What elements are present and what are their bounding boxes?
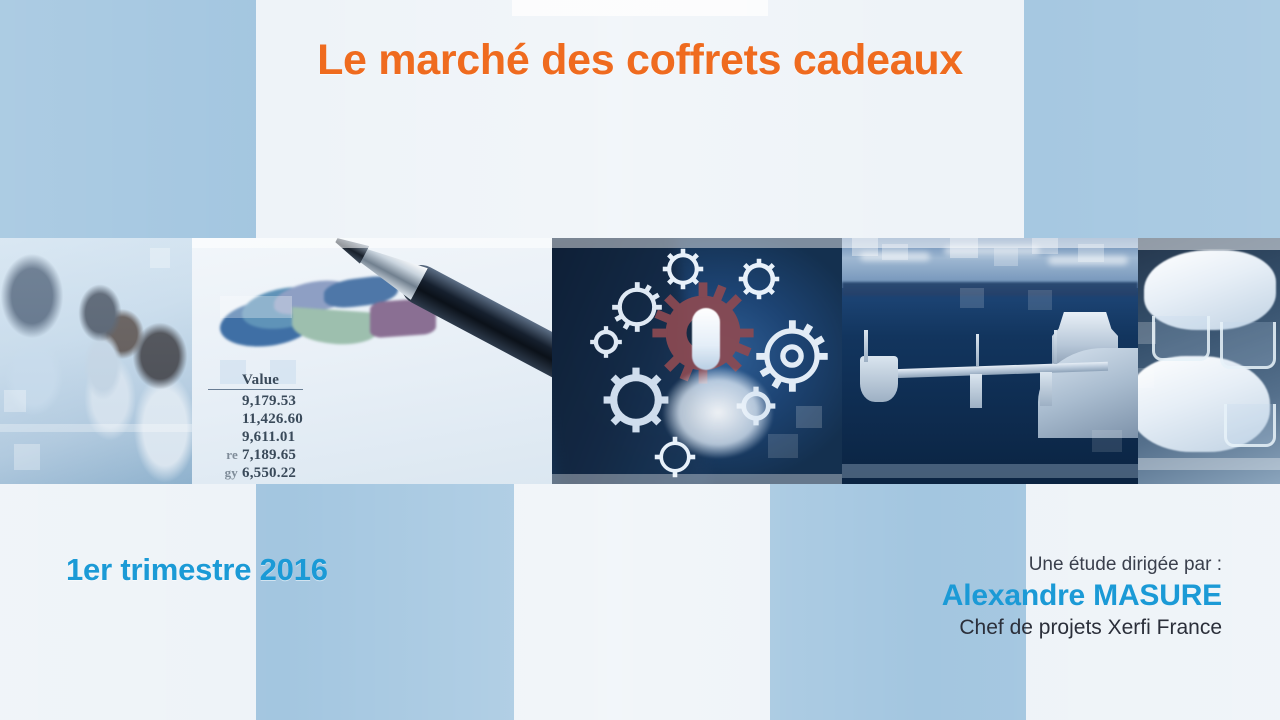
- harbour-pier-photo: [842, 238, 1138, 484]
- beaker: [1152, 316, 1210, 361]
- credits-author: Alexandre MASURE: [942, 578, 1222, 614]
- pier-pylon: [976, 334, 979, 366]
- report-value-cell: 9,611.01: [242, 429, 295, 445]
- table-row: 9,611.01: [208, 428, 303, 446]
- photo-band-overlay: [1138, 458, 1280, 470]
- table-row: re7,189.65: [208, 446, 303, 464]
- period-label: 1er trimestre 2016: [66, 552, 328, 588]
- beaker: [1224, 404, 1276, 447]
- report-value-cell: 6,550.22: [242, 465, 296, 481]
- photo-mosaic-overlay: [0, 238, 192, 484]
- pier-pylon: [970, 374, 982, 408]
- beaker: [1220, 322, 1276, 369]
- credits-lead-in: Une étude dirigée par :: [942, 552, 1222, 578]
- photo-band-overlay: [0, 424, 192, 432]
- bg-block-top-notch: [512, 0, 768, 16]
- report-rule: [208, 389, 303, 390]
- report-table-header: Value: [208, 371, 303, 389]
- report-values-table: Value 9,179.53 11,426.60 9,611.01 re7,18…: [208, 371, 303, 482]
- robotic-hand-shape: [648, 354, 788, 484]
- pier-pylon: [864, 330, 868, 362]
- gear-icon: [588, 324, 624, 360]
- credits-role: Chef de projets Xerfi France: [942, 614, 1222, 642]
- bg-block-bottom-col-1: [256, 484, 514, 720]
- photo-tint-overlay: [0, 238, 192, 484]
- report-value-cell: 7,189.65: [242, 447, 296, 463]
- table-row: 9,179.53: [208, 392, 303, 410]
- laboratory-photo: [1138, 238, 1280, 484]
- bg-block-bottom-col-2: [514, 484, 770, 720]
- report-value-cell: 11,426.60: [242, 411, 303, 427]
- gear-icon: [736, 256, 782, 302]
- pier-pylon: [860, 356, 898, 402]
- photo-band-overlay: [1138, 238, 1280, 250]
- table-row: gy6,550.22: [208, 464, 303, 482]
- gear-icon: [660, 246, 706, 292]
- title-slide: Le marché des coffrets cadeaux: [0, 0, 1280, 720]
- business-meeting-photo: [0, 238, 192, 484]
- pier-pylon: [1040, 372, 1052, 406]
- photo-strip: Value 9,179.53 11,426.60 9,611.01 re7,18…: [0, 238, 1280, 484]
- pier-pylon: [1054, 330, 1057, 364]
- table-row: 11,426.60: [208, 410, 303, 428]
- report-header-cell: Value: [242, 372, 279, 388]
- bg-block-bottom-left: [0, 484, 256, 720]
- photo-band-overlay: [842, 464, 1138, 478]
- financial-report-photo: Value 9,179.53 11,426.60 9,611.01 re7,18…: [192, 238, 552, 484]
- credits-block: Une étude dirigée par : Alexandre MASURE…: [942, 552, 1222, 642]
- page-title: Le marché des coffrets cadeaux: [0, 36, 1280, 85]
- report-value-cell: 9,179.53: [242, 393, 296, 409]
- far-shore: [842, 282, 1138, 296]
- gears-robotic-hand-photo: [552, 238, 842, 484]
